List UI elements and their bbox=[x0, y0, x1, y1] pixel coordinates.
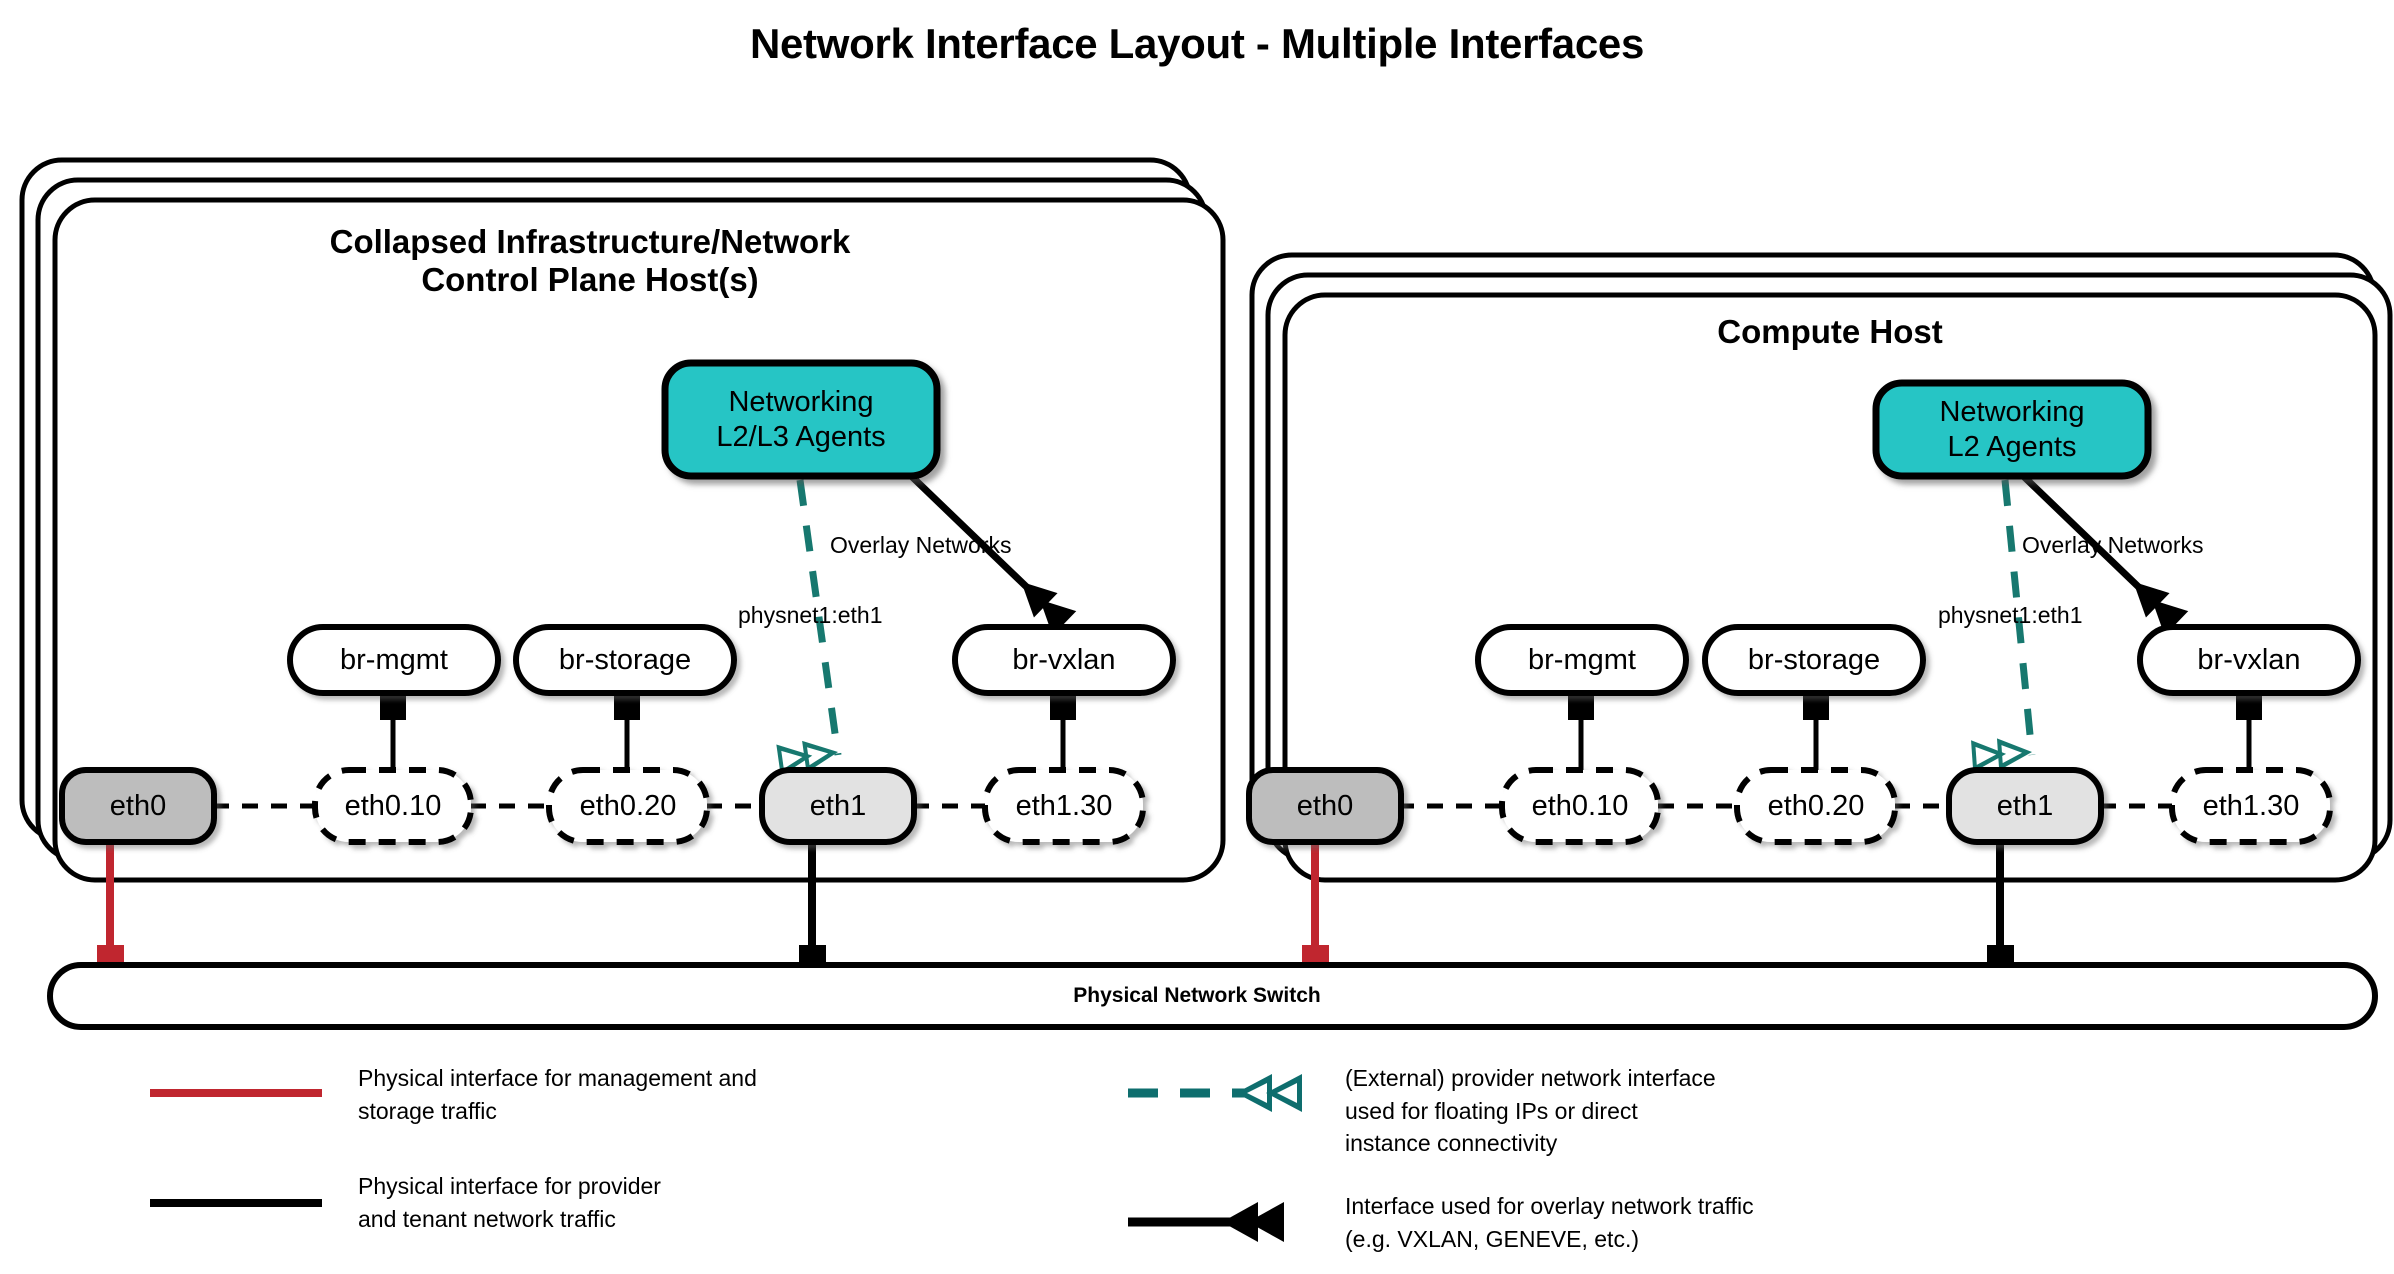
legend-item-mgmt-storage-text: Physical interface for management and st… bbox=[358, 1062, 757, 1127]
edge-label-compute-overlay: Overlay Networks bbox=[2022, 532, 2203, 559]
host-title-control-plane: Collapsed Infrastructure/Network Control… bbox=[200, 223, 980, 299]
physical-switch-label: Physical Network Switch bbox=[0, 984, 2394, 1008]
network-diagram: Network Interface Layout - Multiple Inte… bbox=[0, 0, 2394, 1274]
edge-label-control-plane-overlay: Overlay Networks bbox=[830, 532, 1011, 559]
edge-label-control-plane-provider: physnet1:eth1 bbox=[738, 602, 883, 629]
legend-item-provider-tenant-text: Physical interface for provider and tena… bbox=[358, 1170, 661, 1235]
legend-swatch-overlay-traffic bbox=[1128, 1202, 1284, 1242]
legend-item-overlay-traffic-text: Interface used for overlay network traff… bbox=[1345, 1190, 1754, 1255]
agent-box-control-plane bbox=[665, 363, 937, 476]
legend-item-external-provider-text: (External) provider network interface us… bbox=[1345, 1062, 1716, 1160]
host-title-compute: Compute Host bbox=[1440, 313, 2220, 351]
edge-label-compute-provider: physnet1:eth1 bbox=[1938, 602, 2083, 629]
legend-swatch-external-provider bbox=[1128, 1074, 1302, 1112]
agent-box-compute bbox=[1876, 383, 2148, 476]
